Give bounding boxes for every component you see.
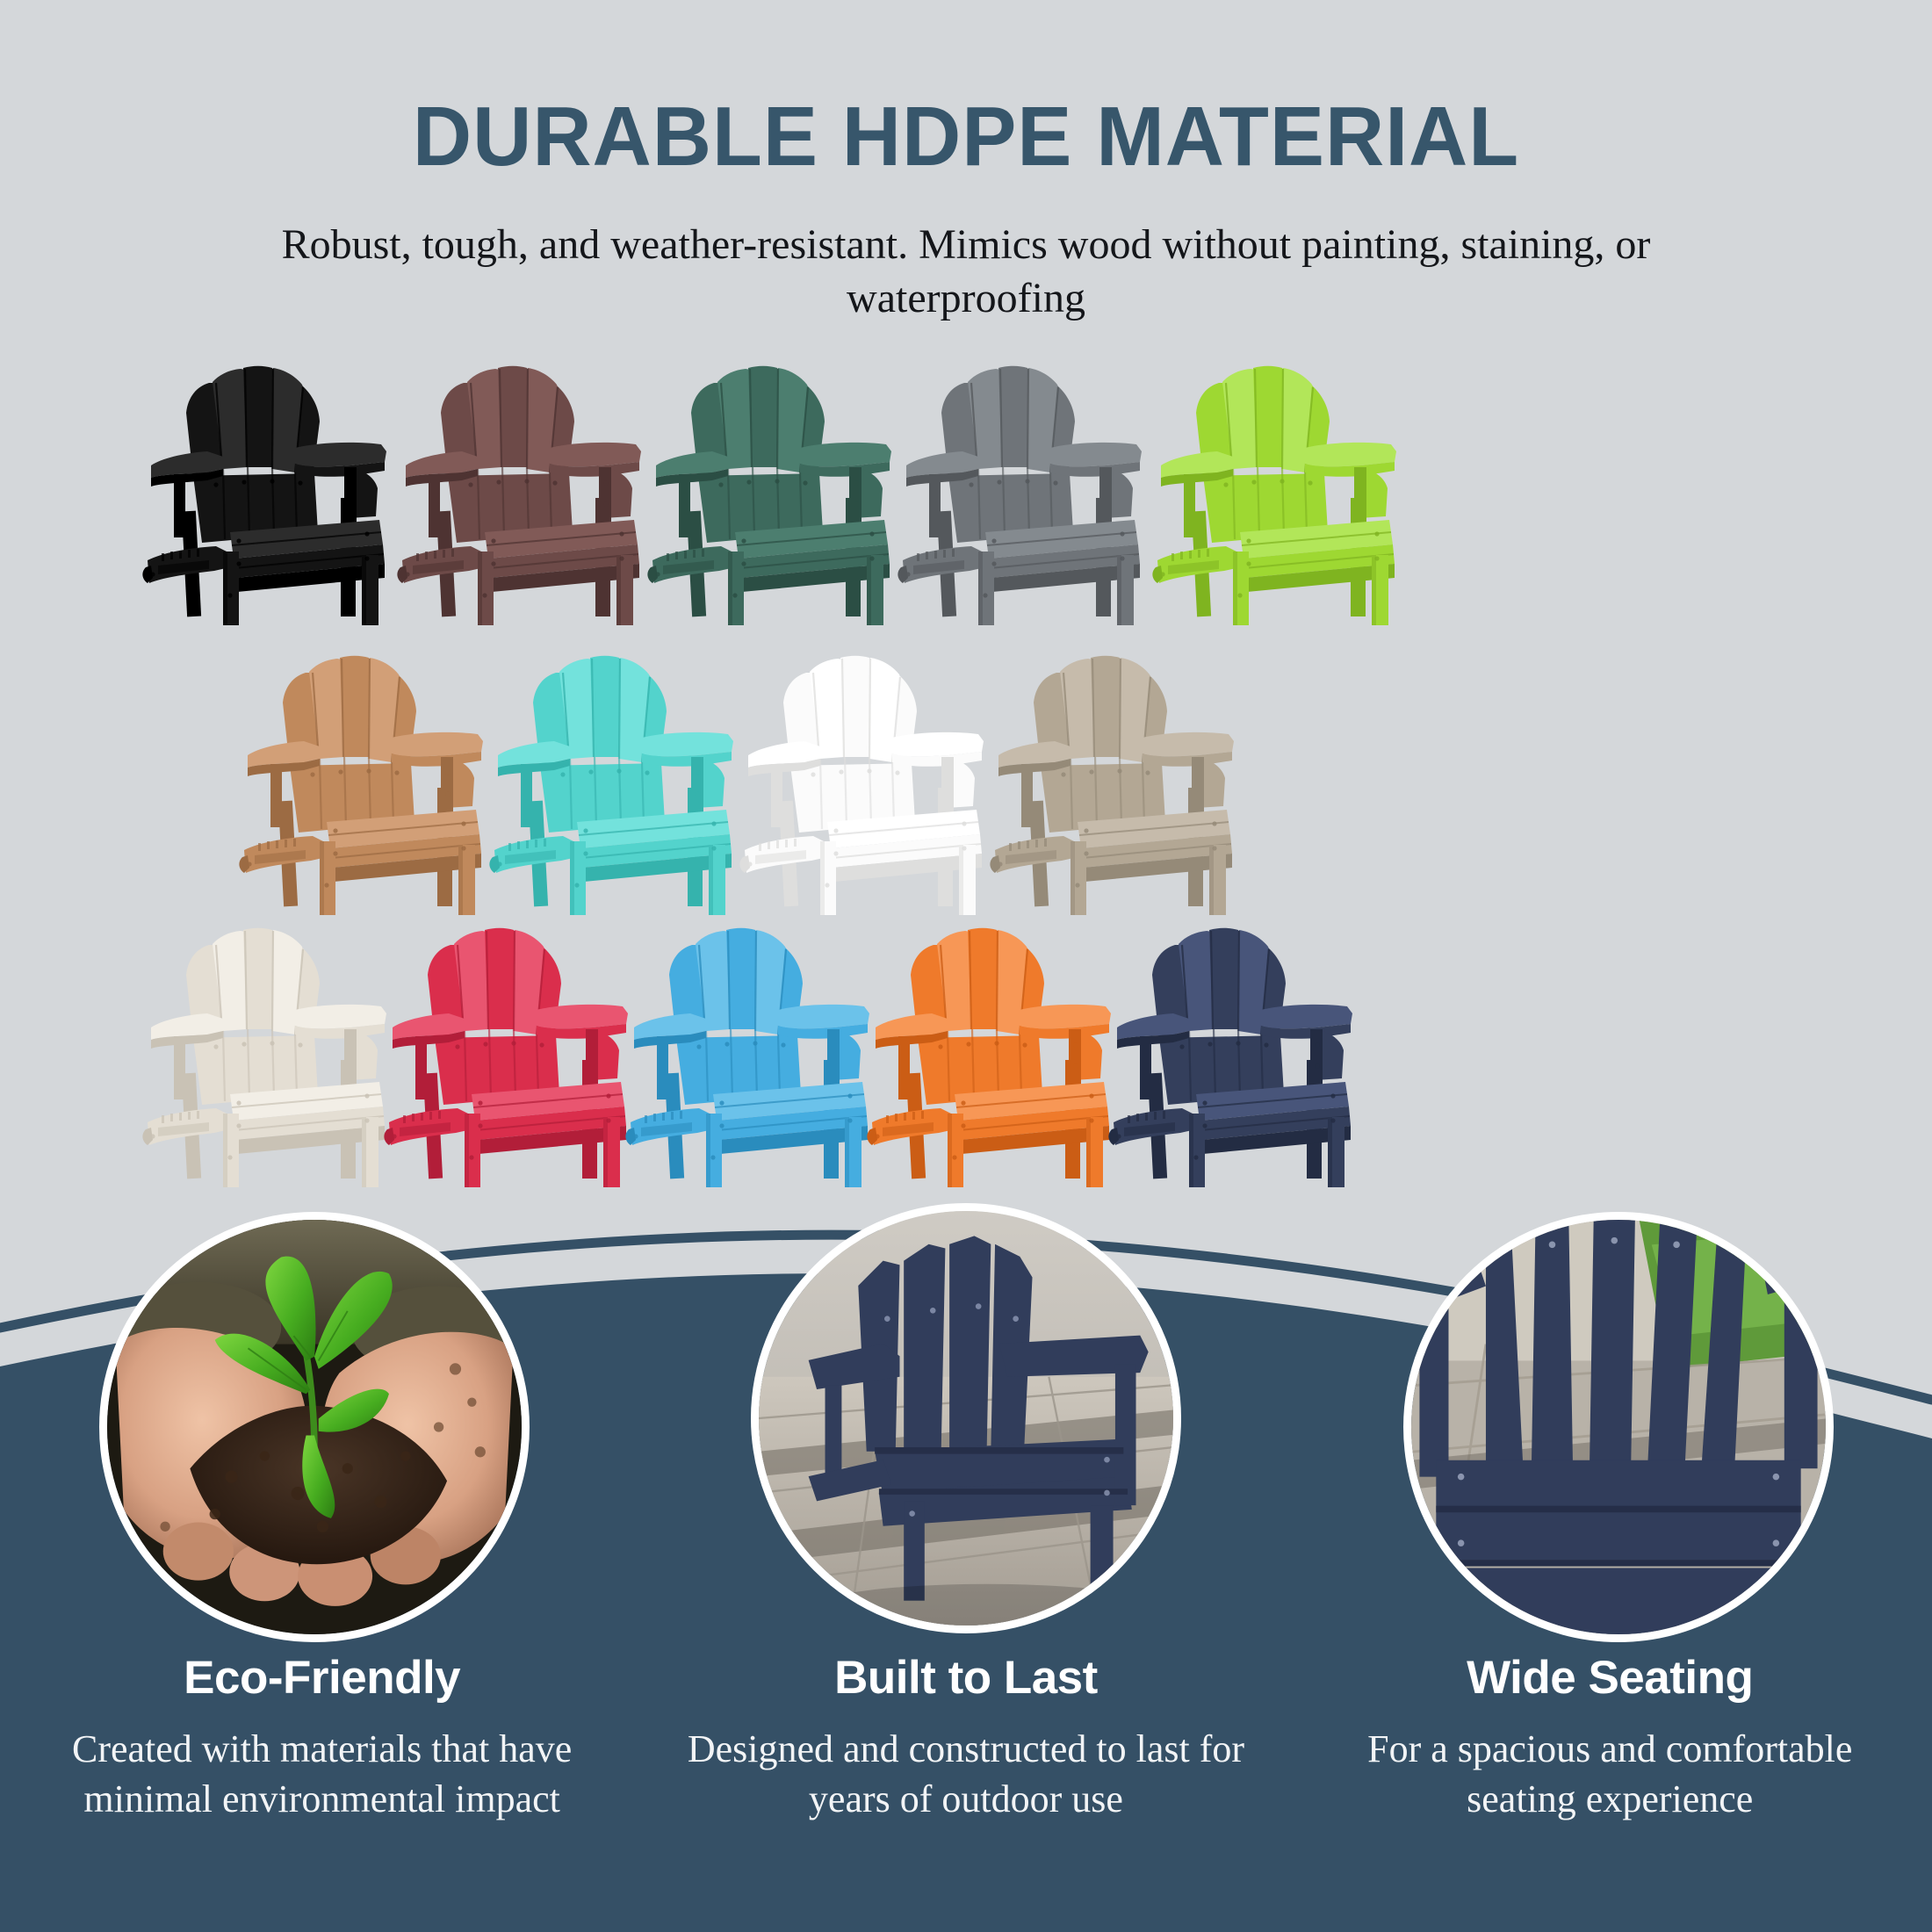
adirondack-chair-light-blue <box>615 906 878 1196</box>
chair-swatch-ivory[interactable] <box>132 906 395 1196</box>
adirondack-chair-teak <box>228 634 492 924</box>
chair-swatch-turquoise[interactable] <box>479 634 742 924</box>
adirondack-chair-orange <box>856 906 1120 1196</box>
chair-swatch-black[interactable] <box>132 344 395 634</box>
adirondack-chair-turquoise <box>479 634 742 924</box>
adirondack-chair-navy <box>1098 906 1361 1196</box>
header-block: DURABLE HDPE MATERIAL Robust, tough, and… <box>0 0 1932 326</box>
wide-seating-photo <box>1403 1212 1834 1642</box>
eco-friendly-photo <box>99 1212 530 1642</box>
chair-swatch-lime-green[interactable] <box>1142 344 1405 634</box>
feature-captions: Eco-FriendlyCreated with materials that … <box>0 1651 1932 1824</box>
adirondack-chair-red <box>373 906 637 1196</box>
feature-description: Designed and constructed to last for yea… <box>676 1724 1256 1824</box>
chair-swatch-khaki[interactable] <box>979 634 1243 924</box>
adirondack-chair-white <box>729 634 992 924</box>
chair-color-grid <box>0 344 1932 1249</box>
feature-title: Eco-Friendly <box>25 1651 619 1705</box>
adirondack-chair-ivory <box>132 906 395 1196</box>
feature-title: Wide Seating <box>1313 1651 1907 1705</box>
adirondack-chair-brown <box>386 344 650 634</box>
feature-2: Built to LastDesigned and constructed to… <box>644 1651 1287 1824</box>
chair-swatch-light-blue[interactable] <box>615 906 878 1196</box>
feature-title: Built to Last <box>668 1651 1263 1705</box>
adirondack-chair-lime-green <box>1142 344 1405 634</box>
chair-swatch-dark-green[interactable] <box>637 344 900 634</box>
built-to-last-photo <box>751 1203 1181 1633</box>
chair-swatch-teak[interactable] <box>228 634 492 924</box>
chair-swatch-red[interactable] <box>373 906 637 1196</box>
feature-description: Created with materials that have minimal… <box>32 1724 612 1824</box>
feature-1: Eco-FriendlyCreated with materials that … <box>0 1651 644 1824</box>
chair-swatch-navy[interactable] <box>1098 906 1361 1196</box>
chair-swatch-white[interactable] <box>729 634 992 924</box>
chair-swatch-gray[interactable] <box>887 344 1150 634</box>
feature-description: For a spacious and comfortable seating e… <box>1320 1724 1900 1824</box>
chair-swatch-brown[interactable] <box>386 344 650 634</box>
page-subtitle: Robust, tough, and weather-resistant. Mi… <box>281 179 1651 326</box>
adirondack-chair-gray <box>887 344 1150 634</box>
chair-swatch-orange[interactable] <box>856 906 1120 1196</box>
page-title: DURABLE HDPE MATERIAL <box>29 0 1903 179</box>
adirondack-chair-khaki <box>979 634 1243 924</box>
infographic-canvas: DURABLE HDPE MATERIAL Robust, tough, and… <box>0 0 1932 1932</box>
feature-3: Wide SeatingFor a spacious and comfortab… <box>1288 1651 1932 1824</box>
adirondack-chair-black <box>132 344 395 634</box>
feature-photo-row <box>0 1203 1932 1660</box>
adirondack-chair-dark-green <box>637 344 900 634</box>
